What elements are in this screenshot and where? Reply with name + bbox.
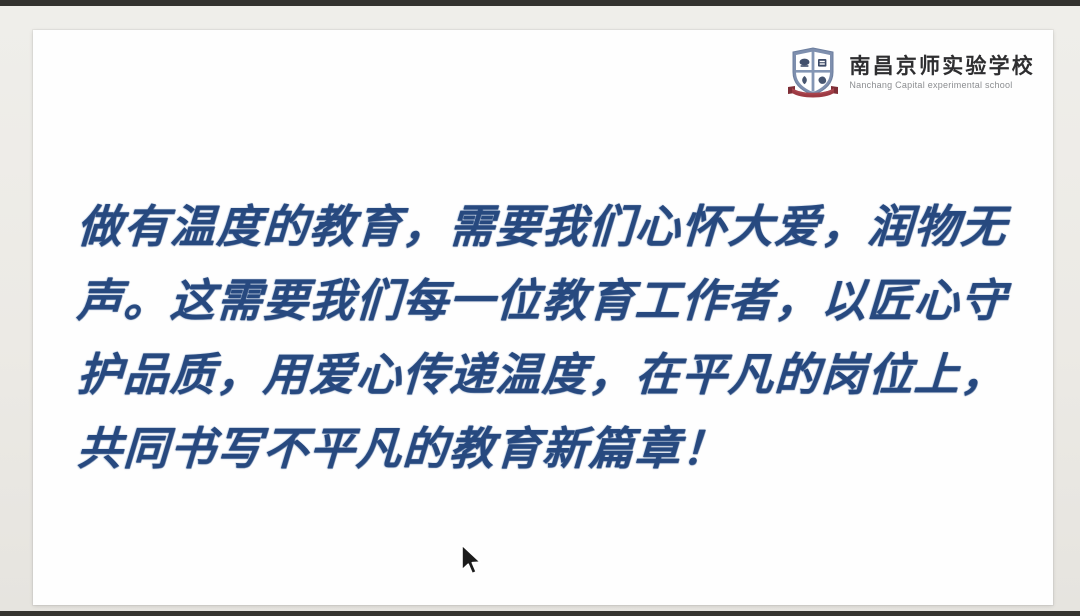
slide-body-text: 做有温度的教育，需要我们心怀大爱，润物无 声。这需要我们每一位教育工作者，以匠心… [77, 190, 1027, 486]
mouse-pointer-arrow-icon [460, 544, 484, 580]
body-text-line-2: 声。这需要我们每一位教育工作者，以匠心守 [75, 264, 1029, 338]
viewer-bottom-bar [0, 611, 1080, 616]
school-name-block: 南昌京师实验学校 Nanchang Capital experimental s… [849, 56, 1035, 90]
school-name-chinese: 南昌京师实验学校 [849, 56, 1035, 77]
school-crest-shield-icon [785, 46, 841, 100]
school-logo-lockup: 南昌京师实验学校 Nanchang Capital experimental s… [785, 46, 1035, 100]
body-text-line-1: 做有温度的教育，需要我们心怀大爱，润物无 [75, 190, 1029, 264]
school-name-english: Nanchang Capital experimental school [849, 81, 1012, 90]
body-text-line-3: 护品质，用爱心传递温度，在平凡的岗位上， [75, 338, 1029, 412]
slide-canvas[interactable]: 南昌京师实验学校 Nanchang Capital experimental s… [33, 30, 1053, 605]
presentation-viewer: 南昌京师实验学校 Nanchang Capital experimental s… [0, 0, 1080, 616]
body-text-line-4: 共同书写不平凡的教育新篇章！ [75, 412, 1029, 486]
